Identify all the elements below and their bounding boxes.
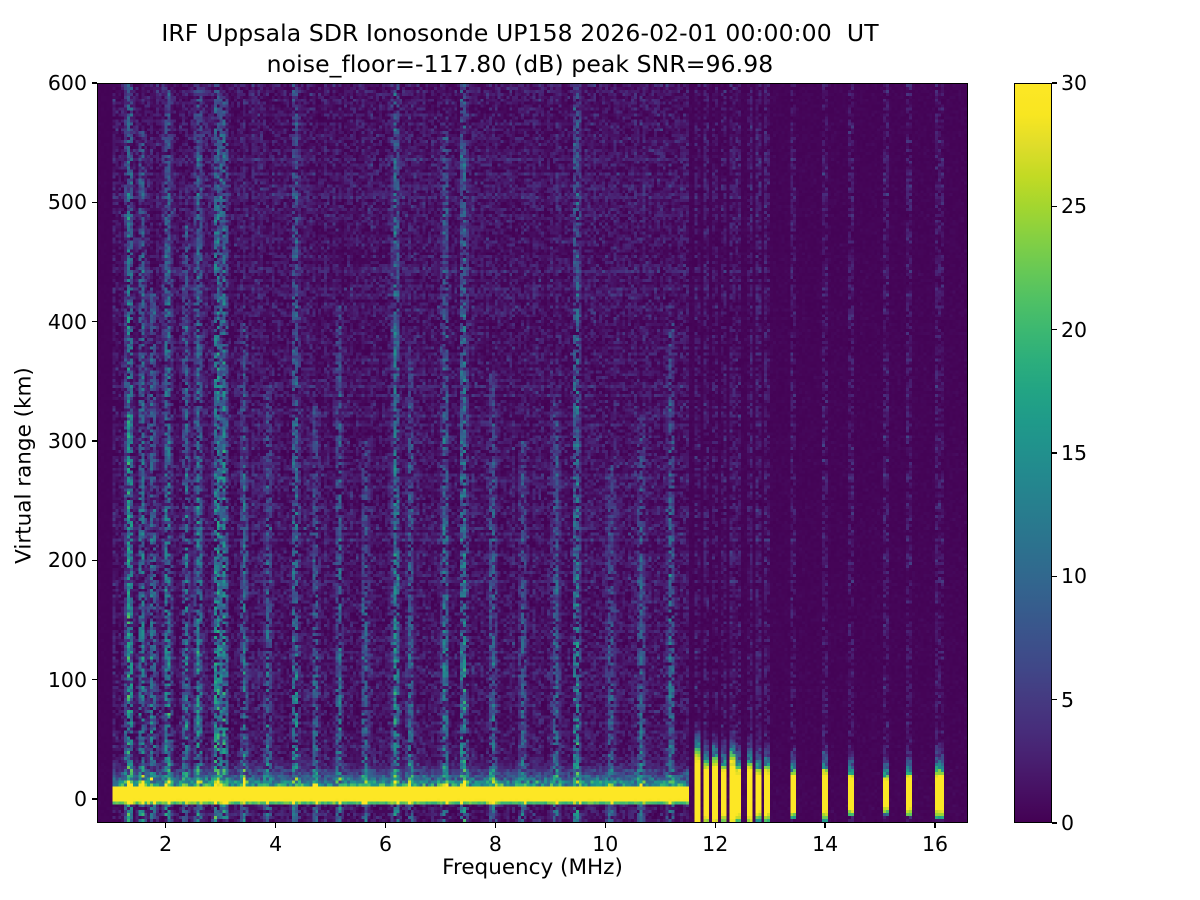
- chart-title-block: IRF Uppsala SDR Ionosonde UP158 2026-02-…: [0, 18, 1040, 79]
- chart-title: IRF Uppsala SDR Ionosonde UP158 2026-02-…: [0, 18, 1040, 49]
- x-tick-label: 12: [702, 832, 728, 856]
- y-tick-mark: [92, 798, 97, 799]
- y-tick-mark: [92, 82, 97, 83]
- y-tick-label: 100: [31, 668, 87, 692]
- x-tick-label: 2: [159, 832, 172, 856]
- colorbar-gradient: [1015, 84, 1051, 822]
- y-axis-label: Virtual range (km): [12, 316, 37, 616]
- colorbar-tick-mark: [1052, 699, 1057, 700]
- x-tick-label: 6: [379, 832, 392, 856]
- y-tick-label: 500: [31, 190, 87, 214]
- colorbar-tick-mark: [1052, 576, 1057, 577]
- x-tick-label: 4: [269, 832, 282, 856]
- colorbar-tick-mark: [1052, 82, 1057, 83]
- x-tick-mark: [165, 823, 166, 828]
- colorbar-tick-mark: [1052, 822, 1057, 823]
- x-tick-label: 8: [489, 832, 502, 856]
- x-tick-mark: [275, 823, 276, 828]
- x-axis-label: Frequency (MHz): [97, 855, 968, 880]
- chart-subtitle: noise_floor=-117.80 (dB) peak SNR=96.98: [0, 49, 1040, 80]
- x-tick-mark: [385, 823, 386, 828]
- y-tick-label: 200: [31, 548, 87, 572]
- x-tick-mark: [824, 823, 825, 828]
- x-tick-label: 14: [812, 832, 838, 856]
- y-tick-label: 0: [31, 787, 87, 811]
- colorbar-tick-label: 10: [1061, 564, 1121, 588]
- ionogram-heatmap: [98, 84, 967, 822]
- y-tick-mark: [92, 560, 97, 561]
- y-tick-mark: [92, 679, 97, 680]
- x-tick-mark: [715, 823, 716, 828]
- y-tick-mark: [92, 202, 97, 203]
- ionogram-figure: IRF Uppsala SDR Ionosonde UP158 2026-02-…: [0, 0, 1200, 900]
- y-tick-label: 400: [31, 310, 87, 334]
- x-tick-label: 16: [922, 832, 948, 856]
- colorbar-tick-label: 0: [1061, 811, 1121, 835]
- colorbar-tick-label: 5: [1061, 688, 1121, 712]
- y-tick-mark: [92, 321, 97, 322]
- x-tick-mark: [934, 823, 935, 828]
- colorbar-tick-label: 15: [1061, 441, 1121, 465]
- x-tick-mark: [605, 823, 606, 828]
- colorbar-tick-mark: [1052, 206, 1057, 207]
- colorbar-tick-label: 30: [1061, 71, 1121, 95]
- x-tick-label: 10: [592, 832, 618, 856]
- colorbar-tick-label: 20: [1061, 318, 1121, 342]
- colorbar-tick-label: 25: [1061, 194, 1121, 218]
- ionogram-plot-area[interactable]: [97, 83, 968, 823]
- y-tick-label: 300: [31, 429, 87, 453]
- colorbar[interactable]: [1014, 83, 1052, 823]
- x-tick-mark: [495, 823, 496, 828]
- y-tick-mark: [92, 440, 97, 441]
- colorbar-tick-mark: [1052, 452, 1057, 453]
- y-tick-label: 600: [31, 71, 87, 95]
- colorbar-tick-mark: [1052, 329, 1057, 330]
